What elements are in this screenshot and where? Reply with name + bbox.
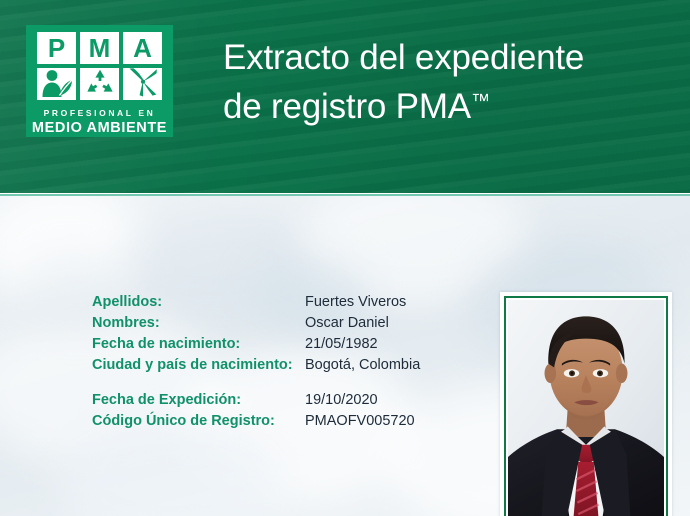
page-title: Extracto del expediente de registro PMA™ [223,36,673,129]
recycle-icon [86,69,114,100]
field-row-ciudad-pais-nacimiento: Ciudad y país de nacimiento: Bogotá, Col… [92,357,420,378]
holder-portrait-photo [508,300,664,516]
logo-letter-p: P [48,35,65,61]
field-row-fecha-nacimiento: Fecha de nacimiento: 21/05/1982 [92,336,420,357]
logo-caption-large: MEDIO AMBIENTE [26,119,173,137]
ear-right [616,364,628,383]
logo-tile-recycle [80,68,119,100]
portrait-photo-frame [500,292,672,516]
windmill-icon [127,68,159,100]
page-title-line-2-text: de registro PMA [223,87,471,126]
logo-tile-letter-a: A [123,32,162,64]
field-label-fecha-expedicion: Fecha de Expedición: [92,392,305,408]
registry-fields: Apellidos: Fuertes Viveros Nombres: Osca… [92,294,420,448]
pupil-left [571,372,574,375]
logo-tile-person-leaf [37,68,76,100]
trademark-symbol: ™ [471,91,490,112]
logo-tile-grid: P M A [37,32,162,100]
field-group-registry-data: Fecha de Expedición: 19/10/2020 Código Ú… [92,392,420,434]
portrait-photo-border [504,296,668,516]
field-value-ciudad-pais-nacimiento: Bogotá, Colombia [305,357,420,373]
field-value-fecha-nacimiento: 21/05/1982 [305,336,378,352]
field-row-fecha-expedicion: Fecha de Expedición: 19/10/2020 [92,392,420,413]
field-value-codigo-unico-registro: PMAOFV005720 [305,413,415,429]
field-row-codigo-unico-registro: Código Único de Registro: PMAOFV005720 [92,413,420,434]
field-label-ciudad-pais-nacimiento: Ciudad y país de nacimiento: [92,357,305,373]
logo-caption: PROFESIONAL EN MEDIO AMBIENTE [26,109,173,137]
field-label-nombres: Nombres: [92,315,305,331]
field-row-nombres: Nombres: Oscar Daniel [92,315,420,336]
pma-registry-extract-card: P M A [0,0,690,516]
pma-logo: P M A [26,25,173,137]
logo-letter-a: A [133,35,152,61]
field-group-personal-data: Apellidos: Fuertes Viveros Nombres: Osca… [92,294,420,378]
logo-tile-letter-m: M [80,32,119,64]
logo-tile-windmill [123,68,162,100]
page-title-line-1: Extracto del expediente [223,36,673,80]
page-title-line-2: de registro PMA™ [223,80,673,129]
logo-tile-letter-p: P [37,32,76,64]
person-leaf-icon [39,68,75,100]
ear-left [545,364,557,383]
field-label-fecha-nacimiento: Fecha de nacimiento: [92,336,305,352]
field-label-apellidos: Apellidos: [92,294,305,310]
field-row-apellidos: Apellidos: Fuertes Viveros [92,294,420,315]
field-value-nombres: Oscar Daniel [305,315,389,331]
pupil-right [599,372,602,375]
field-value-fecha-expedicion: 19/10/2020 [305,392,378,408]
logo-caption-small: PROFESIONAL EN [26,109,173,119]
field-value-apellidos: Fuertes Viveros [305,294,406,310]
field-label-codigo-unico-registro: Código Único de Registro: [92,413,305,429]
portrait-illustration [508,300,664,516]
logo-letter-m: M [89,35,111,61]
